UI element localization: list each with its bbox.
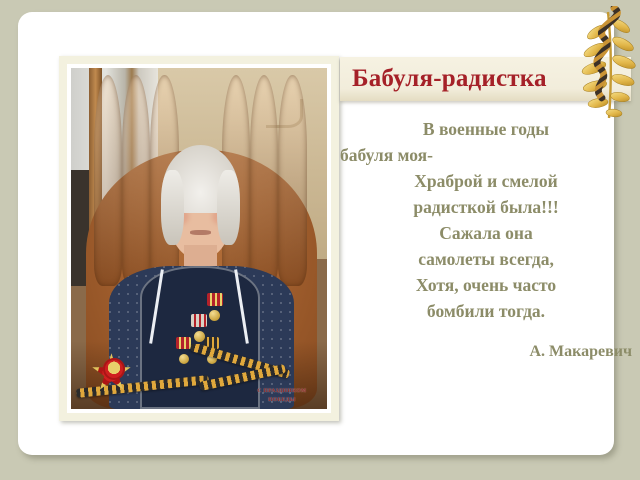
photo-medal-ribbon bbox=[207, 293, 223, 306]
poem-line: Хотя, очень часто bbox=[340, 272, 632, 298]
photo-chair-flute bbox=[94, 75, 122, 286]
slide-panel: С ПРАЗДНИКОМ ПОБЕДЫ Бабуля-радистка В во… bbox=[18, 12, 614, 455]
poem-line: радисткой была!!! bbox=[340, 194, 632, 220]
poem-text-block: В военные годы бабуля моя- Храброй и сме… bbox=[340, 116, 632, 324]
veteran-photo: С ПРАЗДНИКОМ ПОБЕДЫ bbox=[71, 68, 327, 409]
photo-medal-ribbon bbox=[191, 314, 207, 327]
photo-frame: С ПРАЗДНИКОМ ПОБЕДЫ bbox=[59, 56, 339, 421]
photo-chair-flute bbox=[278, 75, 306, 286]
photo-mouth bbox=[190, 230, 210, 235]
photo-inner-border: С ПРАЗДНИКОМ ПОБЕДЫ bbox=[67, 64, 331, 413]
order-star-center-icon bbox=[103, 358, 125, 380]
poem-line: бомбили тогда. bbox=[340, 298, 632, 324]
photo-chair-flute bbox=[250, 75, 278, 286]
slide-root: С ПРАЗДНИКОМ ПОБЕДЫ Бабуля-радистка В во… bbox=[0, 0, 640, 480]
title-band: Бабуля-радистка bbox=[340, 57, 631, 101]
poem-line: Храброй и смелой bbox=[340, 168, 632, 194]
photo-hair-side-left bbox=[161, 170, 184, 245]
poem-line: Сажала она bbox=[340, 220, 632, 246]
photo-chair-flute bbox=[122, 75, 150, 286]
poem-line: самолеты всегда, bbox=[340, 246, 632, 272]
poem-author: А. Макаревич bbox=[340, 343, 632, 361]
emblem-caption: С ПРАЗДНИКОМ ПОБЕДЫ bbox=[257, 387, 306, 404]
emblem-caption-line1: С ПРАЗДНИКОМ bbox=[257, 388, 306, 394]
photo-hair-side-right bbox=[217, 170, 240, 245]
st-george-ribbon bbox=[76, 375, 209, 398]
photo-medal-disc bbox=[194, 331, 205, 342]
poem-line: В военные годы bbox=[340, 116, 632, 142]
poem-line: бабуля моя- bbox=[340, 142, 632, 168]
page-title: Бабуля-радистка bbox=[340, 65, 547, 93]
emblem-caption-line2: ПОБЕДЫ bbox=[268, 397, 295, 403]
victory-emblem: С ПРАЗДНИКОМ ПОБЕДЫ bbox=[71, 344, 327, 409]
